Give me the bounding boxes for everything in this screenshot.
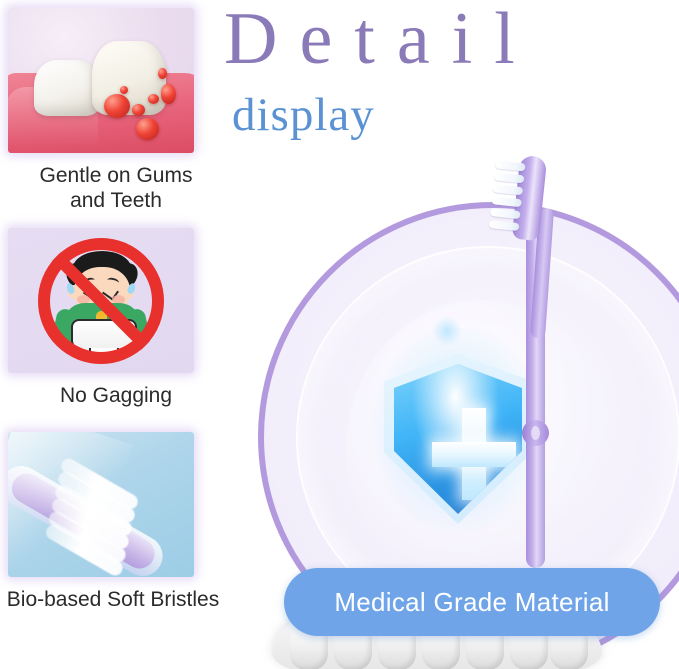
- feature-caption-line: and Teeth: [0, 189, 232, 214]
- feature-caption-line: Bio-based Soft Bristles: [0, 588, 232, 613]
- inflamed-gums-teeth-photo: [8, 8, 194, 153]
- inflammation-blob: [158, 68, 167, 79]
- page-subtitle: display: [232, 92, 375, 139]
- inflammation-blob: [161, 84, 176, 104]
- brush-closeup-group: [8, 432, 194, 577]
- feature-caption-line: No Gagging: [0, 384, 232, 409]
- feature-card-no-gagging: No Gagging: [0, 228, 232, 409]
- feature-caption-line: Gentle on Gums: [0, 164, 232, 189]
- no-gagging-illustration: [8, 228, 194, 373]
- soft-bristles-closeup-photo: [8, 432, 194, 577]
- hero-product-panel: Medical Grade Material: [236, 150, 679, 669]
- feature-caption-no-gagging: No Gagging: [0, 384, 232, 409]
- feature-card-gentle-gums: Gentle on Gums and Teeth: [0, 8, 232, 214]
- medical-grade-material-badge[interactable]: Medical Grade Material: [284, 568, 660, 636]
- medical-grade-material-label: Medical Grade Material: [334, 587, 609, 618]
- feature-card-soft-bristles: Bio-based Soft Bristles: [0, 432, 232, 613]
- sparkle-glow: [432, 316, 462, 346]
- inflammation-blob: [132, 104, 145, 116]
- inflammation-blob: [136, 118, 159, 140]
- page-title-block: Detail display: [218, 2, 638, 150]
- inflammation-blob: [104, 94, 130, 118]
- feature-caption-gentle-gums: Gentle on Gums and Teeth: [0, 164, 232, 214]
- inflammation-blob: [148, 94, 159, 104]
- molar-tooth-left: [34, 60, 100, 116]
- detail-display-page: Detail display Gentle on Gums and Teeth: [0, 0, 679, 669]
- toothbrush-grip: [522, 420, 549, 446]
- prohibition-icon: [38, 238, 164, 364]
- toothbrush-product: [486, 150, 576, 580]
- inflammation-blob: [120, 86, 128, 94]
- page-title: Detail: [224, 2, 537, 76]
- feature-caption-soft-bristles: Bio-based Soft Bristles: [0, 588, 232, 613]
